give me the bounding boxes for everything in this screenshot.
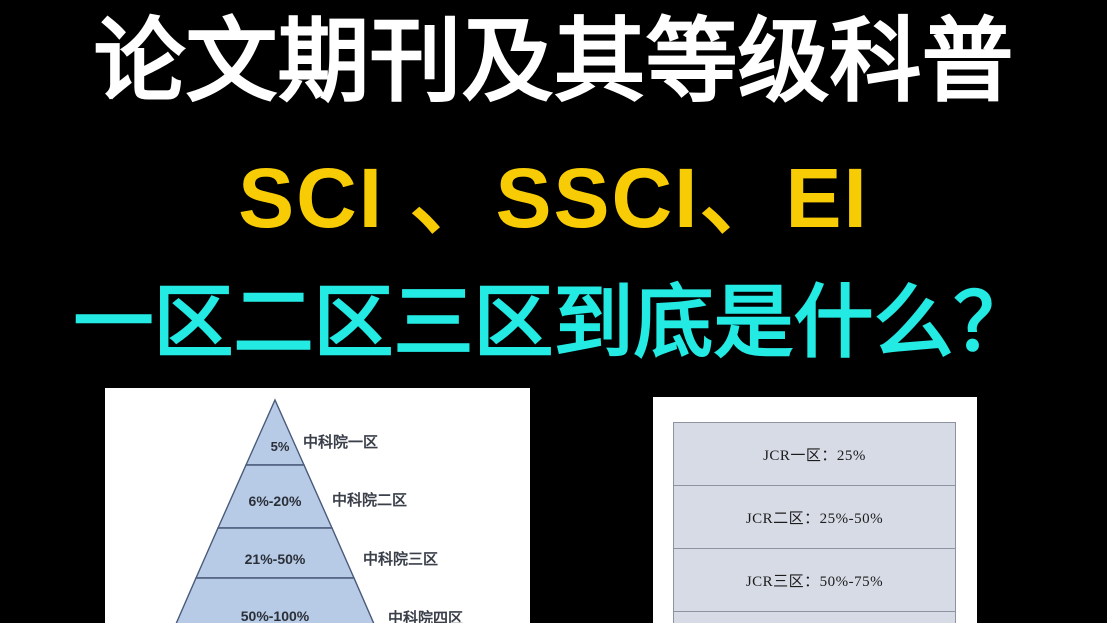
jcr-row-1-cell: JCR一区：25% [674,423,956,486]
pyramid-tier-1 [246,400,304,465]
pyramid-label-tier-2: 中科院二区 [332,489,407,510]
title-line-2: SCI 、SSCI、EI [0,156,1107,240]
pyramid-tier-2-percent: 6%-20% [249,493,302,509]
table-row: JCR一区：25% [674,423,956,486]
title-line-3: 一区二区三区到底是什么？ [0,283,1107,363]
pyramid-label-tier-4: 中科院四区 [388,607,463,623]
table-row: JCR四区：75%-100% [674,612,956,623]
jcr-row-4-cell: JCR四区：75%-100% [674,612,956,623]
thumbnail-canvas: 论文期刊及其等级科普 SCI 、SSCI、EI 一区二区三区到底是什么？ 5% … [0,0,1107,623]
pyramid-label-tier-1: 中科院一区 [303,431,378,452]
pyramid-panel: 5% 6%-20% 21%-50% 50%-100% 中科院一区 中科院二区 中… [105,388,530,623]
title-line-1: 论文期刊及其等级科普 [0,16,1107,108]
pyramid-diagram: 5% 6%-20% 21%-50% 50%-100% [105,388,530,623]
table-row: JCR三区：50%-75% [674,549,956,612]
pyramid-tier-1-percent: 5% [271,439,290,454]
pyramid-tier-4-percent: 50%-100% [241,608,310,623]
pyramid-label-tier-3: 中科院三区 [363,548,438,569]
jcr-row-2-cell: JCR二区：25%-50% [674,486,956,549]
pyramid-tier-3-percent: 21%-50% [245,551,306,567]
table-row: JCR二区：25%-50% [674,486,956,549]
jcr-table-panel: JCR一区：25% JCR二区：25%-50% JCR三区：50%-75% JC… [653,397,977,623]
jcr-row-3-cell: JCR三区：50%-75% [674,549,956,612]
jcr-table: JCR一区：25% JCR二区：25%-50% JCR三区：50%-75% JC… [673,422,956,623]
